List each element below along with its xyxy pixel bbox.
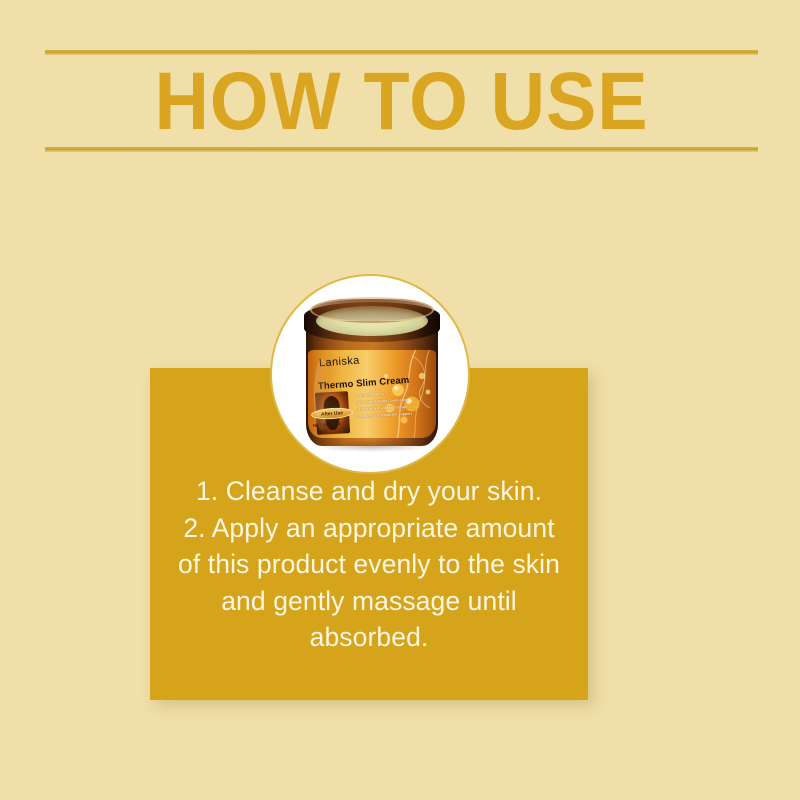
jar-benefit-item: Immune and lymphatic support — [356, 412, 416, 420]
jar-label: Laniska Thermo Slim Cream No side effect… — [308, 350, 436, 438]
poster-canvas: HOW TO USE 1. Cleanse and dry your skin.… — [0, 0, 800, 800]
jar-rim-highlight — [310, 297, 434, 323]
jar-brand-name: Laniska — [319, 355, 360, 370]
jar-ground-shadow — [314, 440, 430, 452]
jar-benefit-list: No side effects Fat Loss & Body Contouri… — [356, 392, 416, 420]
page-title: HOW TO USE — [74, 56, 730, 148]
header-rule-bottom — [45, 147, 758, 152]
header-rule-top — [45, 50, 758, 55]
instruction-text: 1. Cleanse and dry your skin. 2. Apply a… — [172, 473, 566, 656]
header: HOW TO USE — [45, 50, 758, 152]
product-image-circle: Laniska Thermo Slim Cream No side effect… — [270, 274, 470, 474]
product-jar: Laniska Thermo Slim Cream No side effect… — [300, 288, 444, 454]
